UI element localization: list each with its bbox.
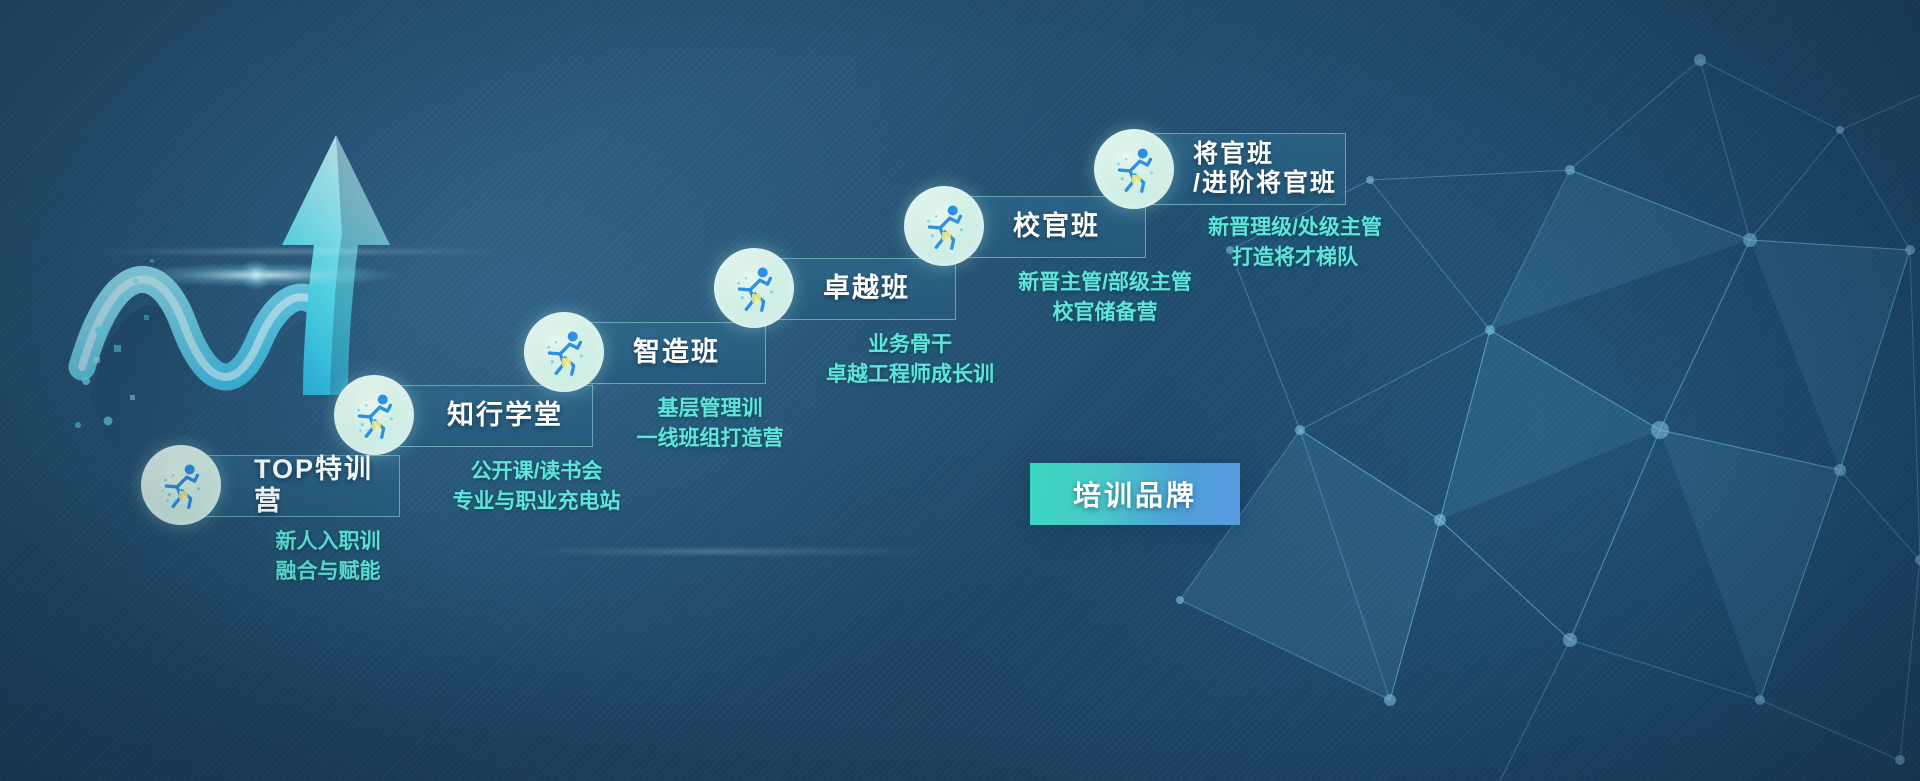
step-4-subtitle: 业务骨干 卓越工程师成长训 (780, 330, 1040, 390)
step-4-title: 卓越班 (823, 273, 910, 305)
glow-streak (520, 550, 940, 553)
step-4-icon-badge[interactable] (714, 248, 794, 328)
step-6-title: 将官班 /进阶将官班 (1193, 140, 1337, 199)
step-5-title: 校官班 (1013, 211, 1100, 243)
step-6-icon-badge[interactable] (1094, 129, 1174, 209)
brand-badge[interactable]: 培训品牌 (1030, 463, 1240, 525)
step-1-title: TOP特训营 (254, 454, 399, 518)
banner-canvas: TOP特训营 新人入 (0, 0, 1920, 781)
step-2-icon-badge[interactable] (334, 375, 414, 455)
growth-arrow-illustration (60, 95, 490, 515)
step-5-icon-badge[interactable] (904, 186, 984, 266)
brand-badge-label: 培训品牌 (1073, 474, 1197, 514)
step-3-icon-badge[interactable] (524, 312, 604, 392)
polygon-network-background (1140, 0, 1920, 781)
step-1-subtitle: 新人入职训 融合与赋能 (223, 527, 433, 587)
step-1-icon-badge[interactable] (141, 445, 221, 525)
running-figure-icon (723, 257, 785, 319)
step-2-title: 知行学堂 (447, 400, 563, 432)
running-figure-icon (533, 321, 595, 383)
step-3-subtitle: 基层管理训 一线班组打造营 (600, 394, 820, 454)
step-2-subtitle: 公开课/读书会 专业与职业充电站 (414, 457, 659, 517)
running-figure-icon (343, 384, 405, 446)
running-figure-icon (1103, 138, 1165, 200)
running-figure-icon (913, 195, 975, 257)
step-6-subtitle: 新晋理级/处级主管 打造将才梯队 (1160, 213, 1430, 273)
vignette-overlay (0, 0, 1920, 781)
diagonal-texture-overlay (0, 0, 1920, 781)
glow-streak (90, 250, 510, 253)
running-figure-icon (150, 454, 212, 516)
step-3-title: 智造班 (633, 337, 720, 369)
step-5-subtitle: 新晋主管/部级主管 校官储备营 (970, 268, 1240, 328)
